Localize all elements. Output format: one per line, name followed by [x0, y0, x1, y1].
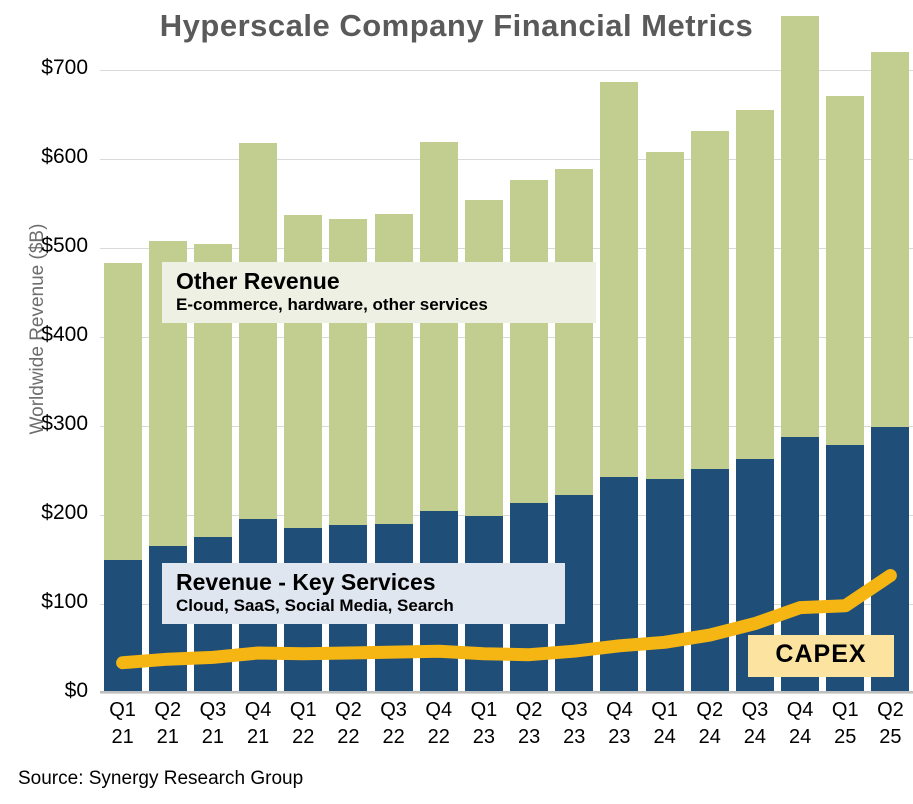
x-axis-tick-year: 23 — [552, 724, 597, 751]
x-axis-tick-label: Q121 — [100, 697, 145, 751]
y-axis-tick-label: $200 — [0, 501, 88, 525]
bar-segment-other-revenue[interactable] — [465, 200, 503, 516]
x-axis-tick-quarter: Q3 — [371, 697, 416, 724]
bar-segment-other-revenue[interactable] — [420, 142, 458, 510]
x-axis-tick-quarter: Q2 — [687, 697, 732, 724]
x-axis-tick-label: Q222 — [326, 697, 371, 751]
x-axis-tick-label: Q421 — [236, 697, 281, 751]
x-axis-tick-year: 23 — [597, 724, 642, 751]
bar-group[interactable] — [826, 96, 864, 693]
x-axis-tick-quarter: Q4 — [597, 697, 642, 724]
annotation-other-revenue: Other Revenue E-commerce, hardware, othe… — [162, 262, 596, 323]
source-note: Source: Synergy Research Group — [18, 768, 303, 790]
x-axis-tick-label: Q123 — [461, 697, 506, 751]
y-axis-tick-label: $700 — [0, 56, 88, 80]
annotation-key-services-heading: Revenue - Key Services — [176, 569, 551, 596]
x-axis-tick-year: 24 — [778, 724, 823, 751]
x-axis-tick-label: Q422 — [416, 697, 461, 751]
x-axis-tick-year: 21 — [145, 724, 190, 751]
x-axis-tick-quarter: Q1 — [281, 697, 326, 724]
x-axis-tick-quarter: Q2 — [326, 697, 371, 724]
x-axis-tick-quarter: Q2 — [145, 697, 190, 724]
bar-group[interactable] — [646, 152, 684, 693]
x-axis-tick-quarter: Q3 — [732, 697, 777, 724]
x-axis-tick-year: 24 — [687, 724, 732, 751]
x-axis-tick-year: 24 — [642, 724, 687, 751]
x-axis-tick-quarter: Q4 — [236, 697, 281, 724]
x-axis-tick-label: Q224 — [687, 697, 732, 751]
x-axis-tick-year: 22 — [281, 724, 326, 751]
chart-title: Hyperscale Company Financial Metrics — [0, 8, 913, 44]
x-axis-tick-label: Q122 — [281, 697, 326, 751]
y-axis-tick-label: $400 — [0, 323, 88, 347]
bar-segment-key-services[interactable] — [104, 560, 142, 694]
annotation-other-revenue-heading: Other Revenue — [176, 268, 582, 295]
bar-segment-other-revenue[interactable] — [691, 131, 729, 468]
annotation-other-revenue-subtext: E-commerce, hardware, other services — [176, 295, 582, 315]
annotation-capex-heading: CAPEX — [756, 640, 886, 670]
bar-group[interactable] — [736, 110, 774, 693]
x-axis-tick-year: 24 — [732, 724, 777, 751]
x-axis-tick-quarter: Q3 — [190, 697, 235, 724]
y-axis-tick-labels: $0$100$200$300$400$500$600$700 — [0, 10, 96, 693]
bar-group[interactable] — [691, 131, 729, 693]
bar-segment-other-revenue[interactable] — [826, 96, 864, 445]
x-axis-tick-label: Q424 — [778, 697, 823, 751]
bar-group[interactable] — [104, 263, 142, 693]
x-axis-tick-quarter: Q1 — [823, 697, 868, 724]
x-axis-tick-year: 23 — [461, 724, 506, 751]
bar-segment-other-revenue[interactable] — [510, 180, 548, 502]
bar-segment-other-revenue[interactable] — [239, 143, 277, 519]
bar-segment-other-revenue[interactable] — [555, 169, 593, 495]
x-axis-tick-quarter: Q4 — [416, 697, 461, 724]
bar-group[interactable] — [781, 16, 819, 693]
bar-group[interactable] — [600, 82, 638, 693]
gridline — [100, 693, 913, 694]
x-axis-tick-year: 22 — [326, 724, 371, 751]
bar-segment-key-services[interactable] — [600, 477, 638, 693]
x-axis-tick-label: Q322 — [371, 697, 416, 751]
x-axis-tick-year: 25 — [868, 724, 913, 751]
x-axis-tick-quarter: Q3 — [552, 697, 597, 724]
x-axis-tick-label: Q223 — [507, 697, 552, 751]
bar-group[interactable] — [871, 52, 909, 693]
bar-segment-other-revenue[interactable] — [736, 110, 774, 459]
x-axis-tick-year: 22 — [416, 724, 461, 751]
x-axis-tick-year: 21 — [100, 724, 145, 751]
x-axis-tick-label: Q324 — [732, 697, 777, 751]
x-axis-tick-label: Q125 — [823, 697, 868, 751]
x-axis-tick-quarter: Q1 — [461, 697, 506, 724]
bar-segment-other-revenue[interactable] — [646, 152, 684, 480]
y-axis-tick-label: $600 — [0, 145, 88, 169]
x-axis-baseline — [100, 691, 913, 693]
x-axis-tick-quarter: Q1 — [100, 697, 145, 724]
x-axis-tick-label: Q225 — [868, 697, 913, 751]
x-axis-tick-labels: Q121Q221Q321Q421Q122Q222Q322Q422Q123Q223… — [100, 697, 913, 759]
annotation-key-services: Revenue - Key Services Cloud, SaaS, Soci… — [162, 563, 565, 624]
annotation-key-services-subtext: Cloud, SaaS, Social Media, Search — [176, 596, 551, 616]
x-axis-tick-quarter: Q1 — [642, 697, 687, 724]
x-axis-tick-label: Q124 — [642, 697, 687, 751]
y-axis-tick-label: $100 — [0, 590, 88, 614]
x-axis-tick-quarter: Q4 — [778, 697, 823, 724]
x-axis-tick-label: Q323 — [552, 697, 597, 751]
bar-segment-other-revenue[interactable] — [871, 52, 909, 427]
chart-container: Hyperscale Company Financial Metrics Wor… — [0, 0, 913, 804]
bar-segment-other-revenue[interactable] — [104, 263, 142, 559]
y-axis-tick-label: $500 — [0, 234, 88, 258]
x-axis-tick-quarter: Q2 — [507, 697, 552, 724]
y-axis-tick-label: $300 — [0, 412, 88, 436]
x-axis-tick-year: 21 — [190, 724, 235, 751]
bar-segment-key-services[interactable] — [646, 479, 684, 693]
bar-segment-other-revenue[interactable] — [600, 82, 638, 477]
x-axis-tick-label: Q423 — [597, 697, 642, 751]
x-axis-tick-year: 22 — [371, 724, 416, 751]
x-axis-tick-year: 25 — [823, 724, 868, 751]
annotation-capex: CAPEX — [748, 635, 894, 677]
y-axis-tick-label: $0 — [0, 679, 88, 703]
x-axis-tick-label: Q221 — [145, 697, 190, 751]
x-axis-tick-label: Q321 — [190, 697, 235, 751]
x-axis-tick-quarter: Q2 — [868, 697, 913, 724]
bar-segment-other-revenue[interactable] — [781, 16, 819, 437]
bar-segment-key-services[interactable] — [691, 469, 729, 693]
x-axis-tick-year: 23 — [507, 724, 552, 751]
x-axis-tick-year: 21 — [236, 724, 281, 751]
bar-segment-other-revenue[interactable] — [375, 214, 413, 524]
